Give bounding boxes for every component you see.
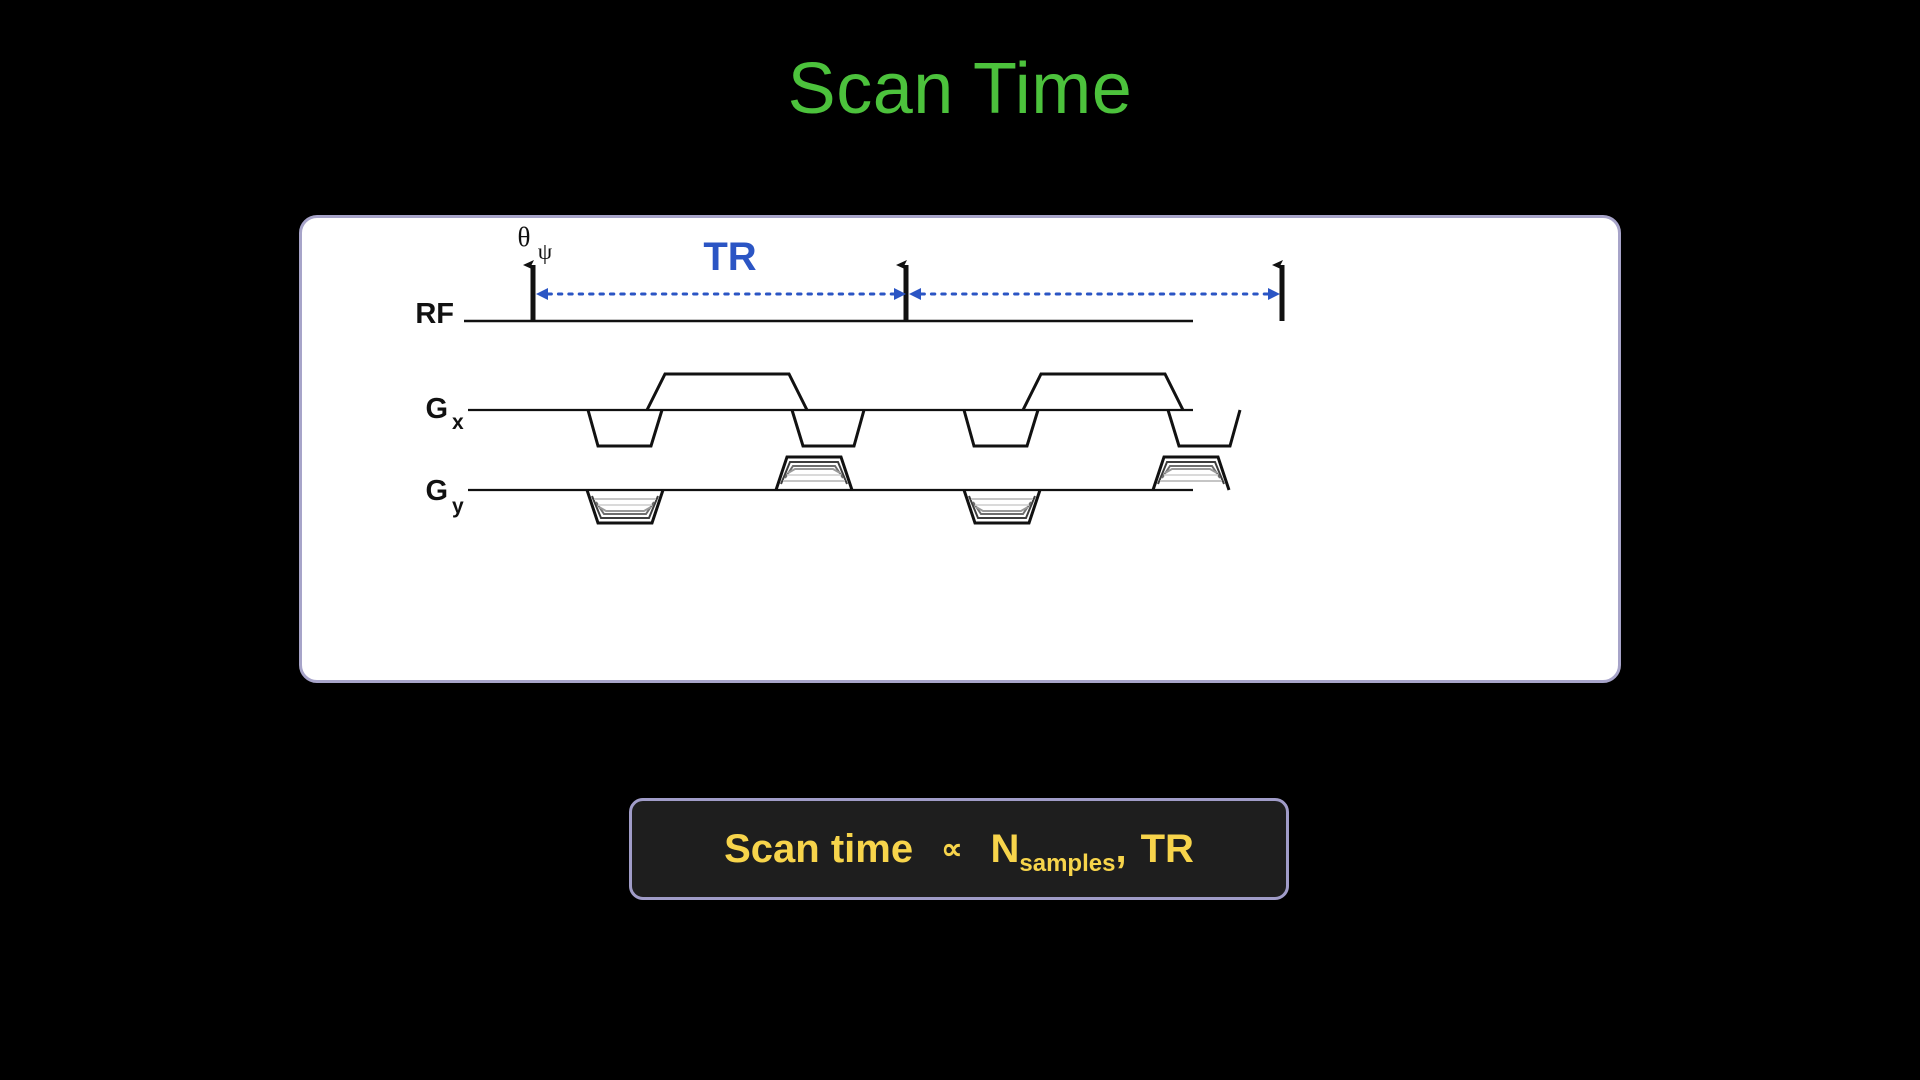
gy-phase-encode-ladder-3	[964, 490, 1040, 523]
flip-angle-theta-symbol: θ	[518, 222, 531, 252]
gx-readout-lobe-1	[647, 374, 807, 410]
rf-channel-label: RF	[415, 298, 454, 330]
gx-channel-label: G	[425, 393, 448, 425]
gy-phase-encode-ladder-2	[776, 457, 852, 490]
formula-comma: ,	[1115, 827, 1126, 872]
gx-spoil-lobe-2	[1168, 410, 1240, 446]
pulse-sequence-panel: RF θ ψ TR G	[299, 215, 1621, 683]
gy-phase-encode-ladder-1	[587, 490, 663, 523]
page-title: Scan Time	[0, 48, 1920, 131]
formula-left-term: Scan time	[724, 827, 913, 872]
formula-n-subscript: samples	[1019, 850, 1115, 878]
gx-channel-label-subscript: x	[452, 411, 464, 434]
gx-readout-lobe-2	[1023, 374, 1183, 410]
gy-channel-label-subscript: y	[452, 495, 464, 518]
gx-channel: G x	[425, 374, 1240, 446]
gx-prephase-lobe-1	[588, 410, 662, 446]
gy-channel-label: G	[425, 475, 448, 507]
tr-label: TR	[703, 235, 756, 279]
gx-spoil-lobe-1	[792, 410, 864, 446]
flip-angle-psi-subscript: ψ	[538, 239, 553, 264]
gy-phase-encode-ladder-4	[1153, 457, 1229, 490]
scan-time-formula: Scan time ∝ N samples , TR	[724, 827, 1194, 872]
proportional-symbol: ∝	[941, 832, 962, 867]
formula-right-term: TR	[1141, 827, 1194, 872]
formula-n-base: N	[991, 827, 1020, 872]
pulse-sequence-diagram: RF θ ψ TR G	[302, 218, 1621, 683]
slide-canvas: Scan Time RF θ	[0, 0, 1920, 1080]
rf-channel: RF θ ψ	[415, 222, 1282, 330]
scan-time-formula-box: Scan time ∝ N samples , TR	[629, 798, 1289, 900]
gy-channel: G y	[425, 457, 1229, 523]
gx-prephase-lobe-2	[964, 410, 1038, 446]
